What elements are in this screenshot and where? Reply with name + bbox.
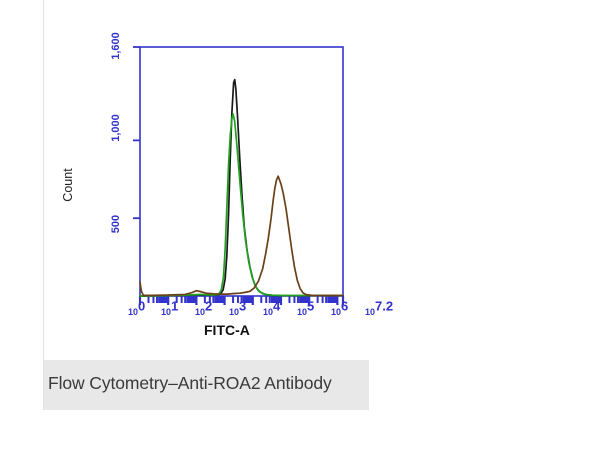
x-tick-label-4: 104 bbox=[263, 306, 280, 318]
histogram-curves bbox=[140, 80, 343, 296]
caption-band: Flow Cytometry–Anti-ROA2 Antibody bbox=[44, 360, 369, 410]
series-isotype-control bbox=[140, 114, 343, 296]
x-tick-label-6: 106 bbox=[331, 306, 348, 318]
x-tick-label-5: 105 bbox=[297, 306, 314, 318]
series-unstained-control bbox=[140, 80, 343, 296]
x-tick-label-7: 107.2 bbox=[365, 306, 393, 318]
figure-card: Count 1,600 1,000 500 100 101 102 103 10… bbox=[43, 0, 368, 410]
flow-cytometry-plot: Count 1,600 1,000 500 100 101 102 103 10… bbox=[44, 0, 369, 360]
x-tick-label-1: 101 bbox=[161, 306, 178, 318]
figure-caption: Flow Cytometry–Anti-ROA2 Antibody bbox=[48, 373, 368, 394]
x-axis-title: FITC-A bbox=[204, 322, 250, 338]
x-tick-label-3: 103 bbox=[229, 306, 246, 318]
x-tick-label-2: 102 bbox=[195, 306, 212, 318]
axes-group bbox=[133, 47, 343, 296]
x-tick-label-0: 100 bbox=[128, 306, 145, 318]
